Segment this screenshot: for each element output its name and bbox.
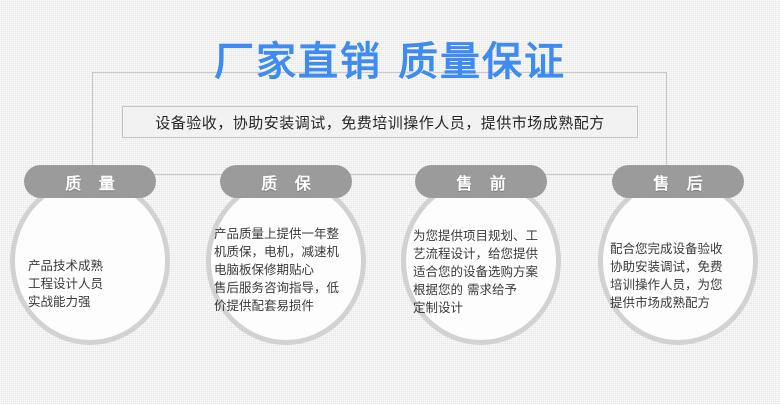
service-card-list: 质 量 产品技术成熟 工程设计人员 实战能力强 质 保 产品质量上提供一年整 机… (0, 165, 780, 355)
subtitle-box: 设备验收，协助安装调试，免费培训操作人员，提供市场成熟配方 (122, 106, 638, 138)
card-pill-header: 售 前 (415, 165, 547, 198)
card-pill-label: 质 保 (255, 170, 317, 194)
card-line: 提供市场成熟配方 (610, 294, 710, 312)
service-card-aftersale: 售 后 配合您完成设备验收 协助安装调试，免费 培训操作人员，为您 提供市场成熟… (594, 165, 762, 355)
card-body-text: 配合您完成设备验收 协助安装调试，免费 培训操作人员，为您 提供市场成熟配方 (610, 213, 750, 339)
card-pill-header: 质 保 (220, 165, 352, 198)
card-line: 价提供配套易损件 (214, 297, 314, 315)
card-line: 售后服务咨询指导，低 (214, 279, 339, 297)
card-line: 电脑板保修期贴心 (214, 261, 314, 279)
card-pill-header: 售 后 (612, 165, 744, 198)
card-line: 为您提供项目规划、工 (413, 227, 538, 245)
card-body-text: 产品质量上提供一年整 机质保，电机，减速机 电脑板保修期贴心 售后服务咨询指导，… (214, 207, 354, 333)
card-line: 工程设计人员 (28, 275, 103, 293)
service-card-quality: 质 量 产品技术成熟 工程设计人员 实战能力强 (6, 165, 174, 355)
card-line: 艺流程设计，给您提供 (413, 245, 538, 263)
card-line: 培训操作人员，为您 (610, 276, 723, 294)
card-pill-label: 售 前 (450, 170, 512, 194)
service-card-presale: 售 前 为您提供项目规划、工 艺流程设计，给您提供 适合您的设备选购方案 根据您… (397, 165, 565, 355)
card-body-text: 为您提供项目规划、工 艺流程设计，给您提供 适合您的设备选购方案 根据您的 需求… (413, 209, 553, 335)
card-line: 配合您完成设备验收 (610, 240, 723, 258)
card-line: 根据您的 需求给予 (413, 281, 517, 299)
card-line: 机质保，电机，减速机 (214, 243, 339, 261)
card-line: 产品质量上提供一年整 (214, 225, 339, 243)
card-pill-label: 售 后 (647, 170, 709, 194)
page-title: 厂家直销 质量保证 (0, 38, 780, 86)
card-line: 实战能力强 (28, 293, 91, 311)
card-line: 定制设计 (413, 299, 463, 317)
subtitle-text: 设备验收，协助安装调试，免费培训操作人员，提供市场成熟配方 (155, 112, 605, 133)
card-line: 协助安装调试，免费 (610, 258, 723, 276)
service-card-warranty: 质 保 产品质量上提供一年整 机质保，电机，减速机 电脑板保修期贴心 售后服务咨… (202, 165, 370, 355)
promo-banner: 厂家直销 质量保证 设备验收，协助安装调试，免费培训操作人员，提供市场成熟配方 … (0, 0, 780, 405)
card-pill-label: 质 量 (59, 170, 121, 194)
card-line: 产品技术成熟 (28, 257, 103, 275)
card-line: 适合您的设备选购方案 (413, 263, 538, 281)
card-body-text: 产品技术成熟 工程设计人员 实战能力强 (28, 221, 168, 347)
card-pill-header: 质 量 (24, 165, 156, 198)
